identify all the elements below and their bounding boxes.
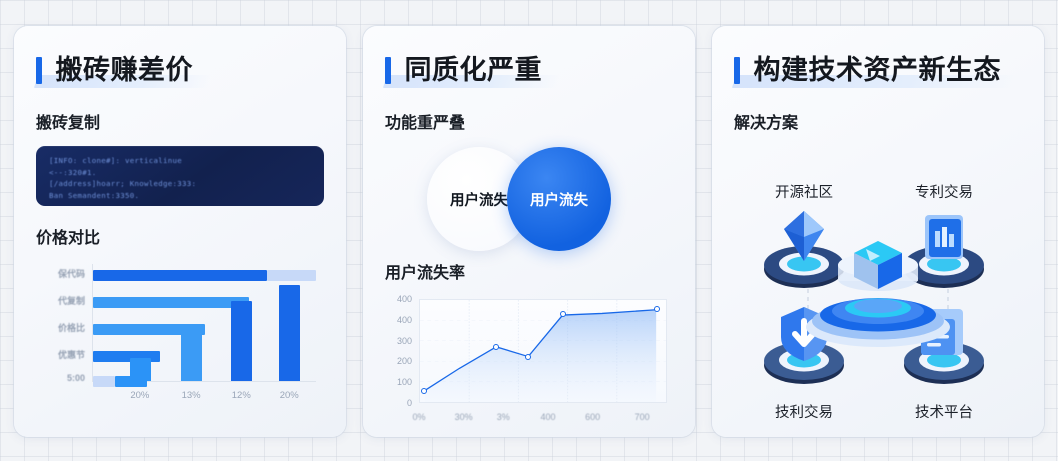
data-point [421, 388, 427, 394]
y-axis-label: 0 [407, 398, 412, 408]
title-accent-bar [385, 57, 391, 84]
title-accent-bar [734, 57, 740, 84]
bar-segment-pale [267, 270, 316, 281]
bar-row: 保代码 [93, 270, 316, 281]
line-chart-svg [419, 299, 667, 403]
vertical-bar [130, 358, 151, 381]
bar-category-label: 5:00 [67, 373, 85, 383]
x-axis-label: 20% [280, 390, 299, 401]
eco-node-label: 专利交易 [915, 181, 973, 202]
panel-arbitrage: 搬砖赚差价 搬砖复制 [INFO: clone#]: verticalinue … [14, 26, 346, 437]
venn-circle-right: 用户流失 [507, 147, 611, 251]
title-text: 构建技术资产新生态 [753, 55, 1001, 85]
section-label-solution: 解决方案 [734, 109, 1022, 133]
venn-left-label: 用户流失 [450, 189, 508, 210]
x-axis-label: 30% [455, 412, 473, 422]
vertical-bar [279, 285, 300, 381]
y-axis-label: 100 [397, 377, 412, 387]
code-line: [INFO: clone#]: verticalinue [49, 155, 311, 167]
venn-diagram: 用户流失 用户流失 [385, 143, 673, 255]
eco-node-label: 技术平台 [915, 401, 973, 422]
x-axis-label: 600 [585, 412, 600, 422]
vertical-bar [231, 301, 252, 381]
code-line: [/address]hoarr; Knowledge:333: [49, 178, 311, 190]
section-label-overlap: 功能重严叠 [385, 109, 673, 133]
eco-node-label: 开源社区 [775, 181, 833, 202]
churn-rate-chart: 01002003004004000%30%3%400600700 [385, 295, 673, 427]
isometric-cube-hub-icon [794, 235, 962, 347]
ecosystem-diagram: 开源社区专利交易技利交易技术平台 [734, 139, 1022, 429]
x-axis-label: 20% [130, 390, 149, 401]
x-axis-label: 700 [635, 412, 650, 422]
panel-homogeneity: 同质化严重 功能重严叠 用户流失 用户流失 用户流失率 010020030040… [363, 26, 695, 437]
bar-segment-pale [93, 376, 115, 387]
y-axis-label: 300 [397, 336, 412, 346]
data-point [525, 354, 531, 360]
chart-plot-area: 保代码代复制价格比优惠节5:0020%13%12%20% [92, 264, 316, 382]
x-axis-label: 12% [232, 390, 251, 401]
data-point [560, 311, 566, 317]
area-fill [425, 310, 656, 402]
code-line: Ban Semandent:3350. [49, 190, 311, 202]
y-axis-label: 200 [397, 356, 412, 366]
panel-arbitrage-title: 搬砖赚差价 [36, 48, 193, 87]
code-line: <--:320#1. [49, 167, 311, 179]
x-axis-label: 13% [182, 390, 201, 401]
bar-category-label: 保代码 [58, 267, 85, 280]
section-label-clone: 搬砖复制 [36, 109, 324, 133]
panel-ecosystem-title: 构建技术资产新生态 [734, 48, 1001, 87]
section-label-churn: 用户流失率 [385, 259, 673, 283]
bar-segment [93, 270, 267, 281]
price-comparison-chart: 保代码代复制价格比优惠节5:0020%13%12%20% [36, 260, 324, 408]
title-text: 同质化严重 [404, 55, 542, 85]
eco-node-label: 技利交易 [775, 401, 833, 422]
y-axis-label: 400 [397, 294, 412, 304]
panel-homogeneity-title: 同质化严重 [385, 48, 542, 87]
code-block: [INFO: clone#]: verticalinue <--:320#1. … [36, 146, 324, 206]
ecosystem-hub [794, 235, 962, 347]
y-axis-label: 400 [397, 315, 412, 325]
bar-segment [93, 297, 249, 308]
bar-category-label: 优惠节 [58, 348, 85, 361]
venn-right-label: 用户流失 [530, 189, 588, 210]
data-point [654, 306, 660, 312]
title-accent-bar [36, 57, 42, 84]
title-text: 搬砖赚差价 [55, 55, 193, 85]
data-point [493, 344, 499, 350]
bar-category-label: 代复制 [58, 294, 85, 307]
section-label-price: 价格对比 [36, 224, 324, 248]
x-axis-label: 0% [412, 412, 425, 422]
line-plot-area: 01002003004004000%30%3%400600700 [419, 299, 667, 403]
panels-container: 搬砖赚差价 搬砖复制 [INFO: clone#]: verticalinue … [0, 0, 1058, 461]
bar-category-label: 价格比 [58, 321, 85, 334]
x-axis-label: 3% [497, 412, 510, 422]
vertical-bar [181, 328, 202, 381]
panel-ecosystem: 构建技术资产新生态 解决方案 开源社区专利交易技利交易技术平台 [712, 26, 1044, 437]
x-axis-label: 400 [540, 412, 555, 422]
